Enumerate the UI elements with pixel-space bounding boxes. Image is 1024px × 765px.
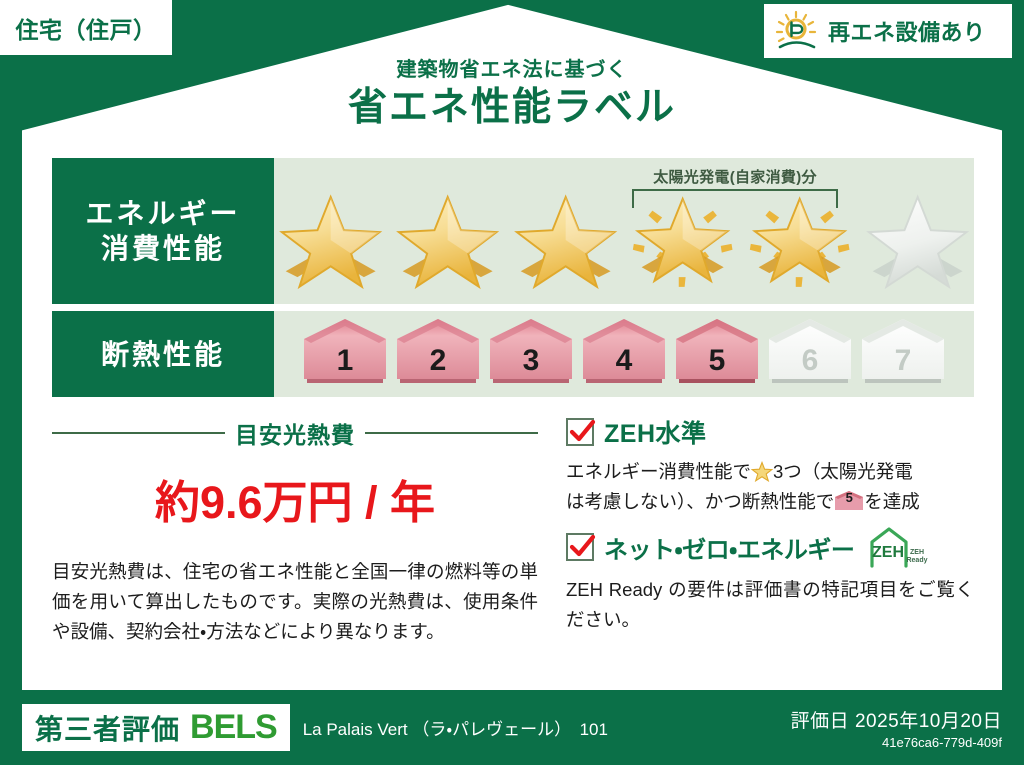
insulation-performance-label: 断熱性能 [52,311,274,397]
insulation-grade-5-number: 5 [709,344,726,389]
zeh-standard-block: ZEH水準 エネルギー消費性能で3つ（太陽光発電は考慮しない）、かつ断熱性能で5… [566,414,974,516]
zeh-section: ZEH水準 エネルギー消費性能で3つ（太陽光発電は考慮しない）、かつ断熱性能で5… [552,414,974,646]
star-4-filled-solar [626,184,739,292]
lower-content: 目安光熱費 約9.6万円 / 年 目安光熱費は、住宅の省エネ性能と全国一律の燃料… [52,414,974,646]
energy-performance-label: エネルギー 消費性能 [52,158,274,304]
zeh-standard-heading: ZEH水準 [566,414,974,450]
zeh-standard-body-part2: は考慮しない）、かつ断熱性能で [566,491,834,512]
insulation-grade-6: 6 [766,317,854,389]
energy-performance-row: エネルギー 消費性能 太陽光発電(自家消費)分 [52,158,974,304]
star-6-empty [861,184,974,292]
insulation-grade-6-number: 6 [802,344,819,389]
net-zero-energy-title: ネット・ゼロ・エネルギー [604,530,854,565]
net-zero-energy-body: ZEH Ready の要件は評価書の特記項目をご覧ください。 [566,575,974,634]
heading-rule-right [365,432,538,434]
energy-performance-stars-area: 太陽光発電(自家消費)分 [274,158,974,304]
star-2-filled [391,184,504,292]
insulation-grade-1: 1 [301,317,389,389]
inline-insulation-grade-badge: 5 [834,490,864,511]
bels-badge: 第三者評価 BELS [22,704,290,751]
label-title-block: 建築物省エネ法に基づく 省エネ性能ラベル [0,58,1024,133]
zeh-standard-title: ZEH水準 [604,414,707,450]
star-3-filled [509,184,622,292]
bels-badge-jp: 第三者評価 [35,708,180,748]
inline-star-icon [751,461,773,482]
insulation-grade-3: 3 [487,317,575,389]
energy-cost-note: 目安光熱費は、住宅の省エネ性能と全国一律の燃料等の単価を用いて算出したものです。… [52,557,538,647]
bels-badge-en: BELS [190,708,277,747]
badge-dwelling-label: 住宅（住戸） [16,11,157,45]
net-zero-energy-heading: ネット・ゼロ・エネルギー ZEH ZEH Ready [566,526,974,568]
label-title-sub: 建築物省エネ法に基づく [0,58,1024,82]
badge-renewable-label: 再エネ設備あり [828,15,986,47]
energy-performance-label: 住宅（住戸） 再エネ設備あり 建築物省エネ法に基づく 省エネ性能ラベル [0,0,1024,765]
svg-text:ZEH: ZEH [910,549,924,556]
svg-text:Ready: Ready [907,557,928,564]
evaluation-date: 評価日 2025年10月20日 [791,706,1002,733]
insulation-grade-4: 4 [580,317,668,389]
solar-sun-icon [774,10,820,52]
zeh-standard-body-part3: を達成 [864,491,920,512]
svg-text:ZEH: ZEH [872,544,904,561]
evaluation-id: 41e76ca6-779d-409f [791,735,1002,750]
building-name: La Palais Vert （ラ・パレヴェール） 101 [303,715,608,740]
label-title-main: 省エネ性能ラベル [0,84,1024,133]
insulation-grade-scale: 1 2 [274,317,974,389]
zeh-standard-body-stars: 3つ（太陽光発電 [773,461,913,482]
star-1-filled [274,184,387,292]
zeh-ready-logo: ZEH ZEH Ready [868,526,930,568]
check-icon [567,532,597,562]
check-icon [567,417,597,447]
star-rating [274,184,974,292]
insulation-grade-3-number: 3 [523,344,540,389]
zeh-standard-body: エネルギー消費性能で3つ（太陽光発電は考慮しない）、かつ断熱性能で5を達成 [566,457,974,516]
performance-panel: エネルギー 消費性能 太陽光発電(自家消費)分 [52,158,974,404]
energy-cost-heading-label: 目安光熱費 [235,416,355,450]
inline-grade-number: 5 [834,490,864,511]
insulation-grade-1-number: 1 [337,344,354,389]
insulation-grade-7: 7 [859,317,947,389]
net-zero-energy-block: ネット・ゼロ・エネルギー ZEH ZEH Ready ZEH Ready の要件… [566,526,974,634]
zeh-standard-body-part1: エネルギー消費性能で [566,461,751,482]
insulation-grades-area: 1 2 [274,311,974,397]
energy-performance-label-line2: 消費性能 [101,231,225,266]
zeh-standard-checkbox[interactable] [566,418,594,446]
insulation-grade-5-achieved: 5 [673,317,761,389]
insulation-grade-4-number: 4 [616,344,633,389]
badge-renewable-equipment: 再エネ設備あり [764,4,1012,58]
star-5-filled-solar [743,184,856,292]
energy-cost-section: 目安光熱費 約9.6万円 / 年 目安光熱費は、住宅の省エネ性能と全国一律の燃料… [52,414,552,646]
badge-dwelling-type: 住宅（住戸） [0,0,172,55]
footer-evaluation-info: 評価日 2025年10月20日 41e76ca6-779d-409f [791,706,1002,750]
heading-rule-left [52,432,225,434]
energy-performance-label-line1: エネルギー [85,196,240,231]
energy-cost-amount: 約9.6万円 / 年 [52,466,538,531]
insulation-grade-2: 2 [394,317,482,389]
energy-cost-heading: 目安光熱費 [52,416,538,450]
insulation-grade-7-number: 7 [895,344,912,389]
insulation-performance-row: 断熱性能 [52,311,974,397]
net-zero-energy-checkbox[interactable] [566,533,594,561]
insulation-grade-2-number: 2 [430,344,447,389]
label-footer: 第三者評価 BELS La Palais Vert （ラ・パレヴェール） 101… [0,690,1024,765]
